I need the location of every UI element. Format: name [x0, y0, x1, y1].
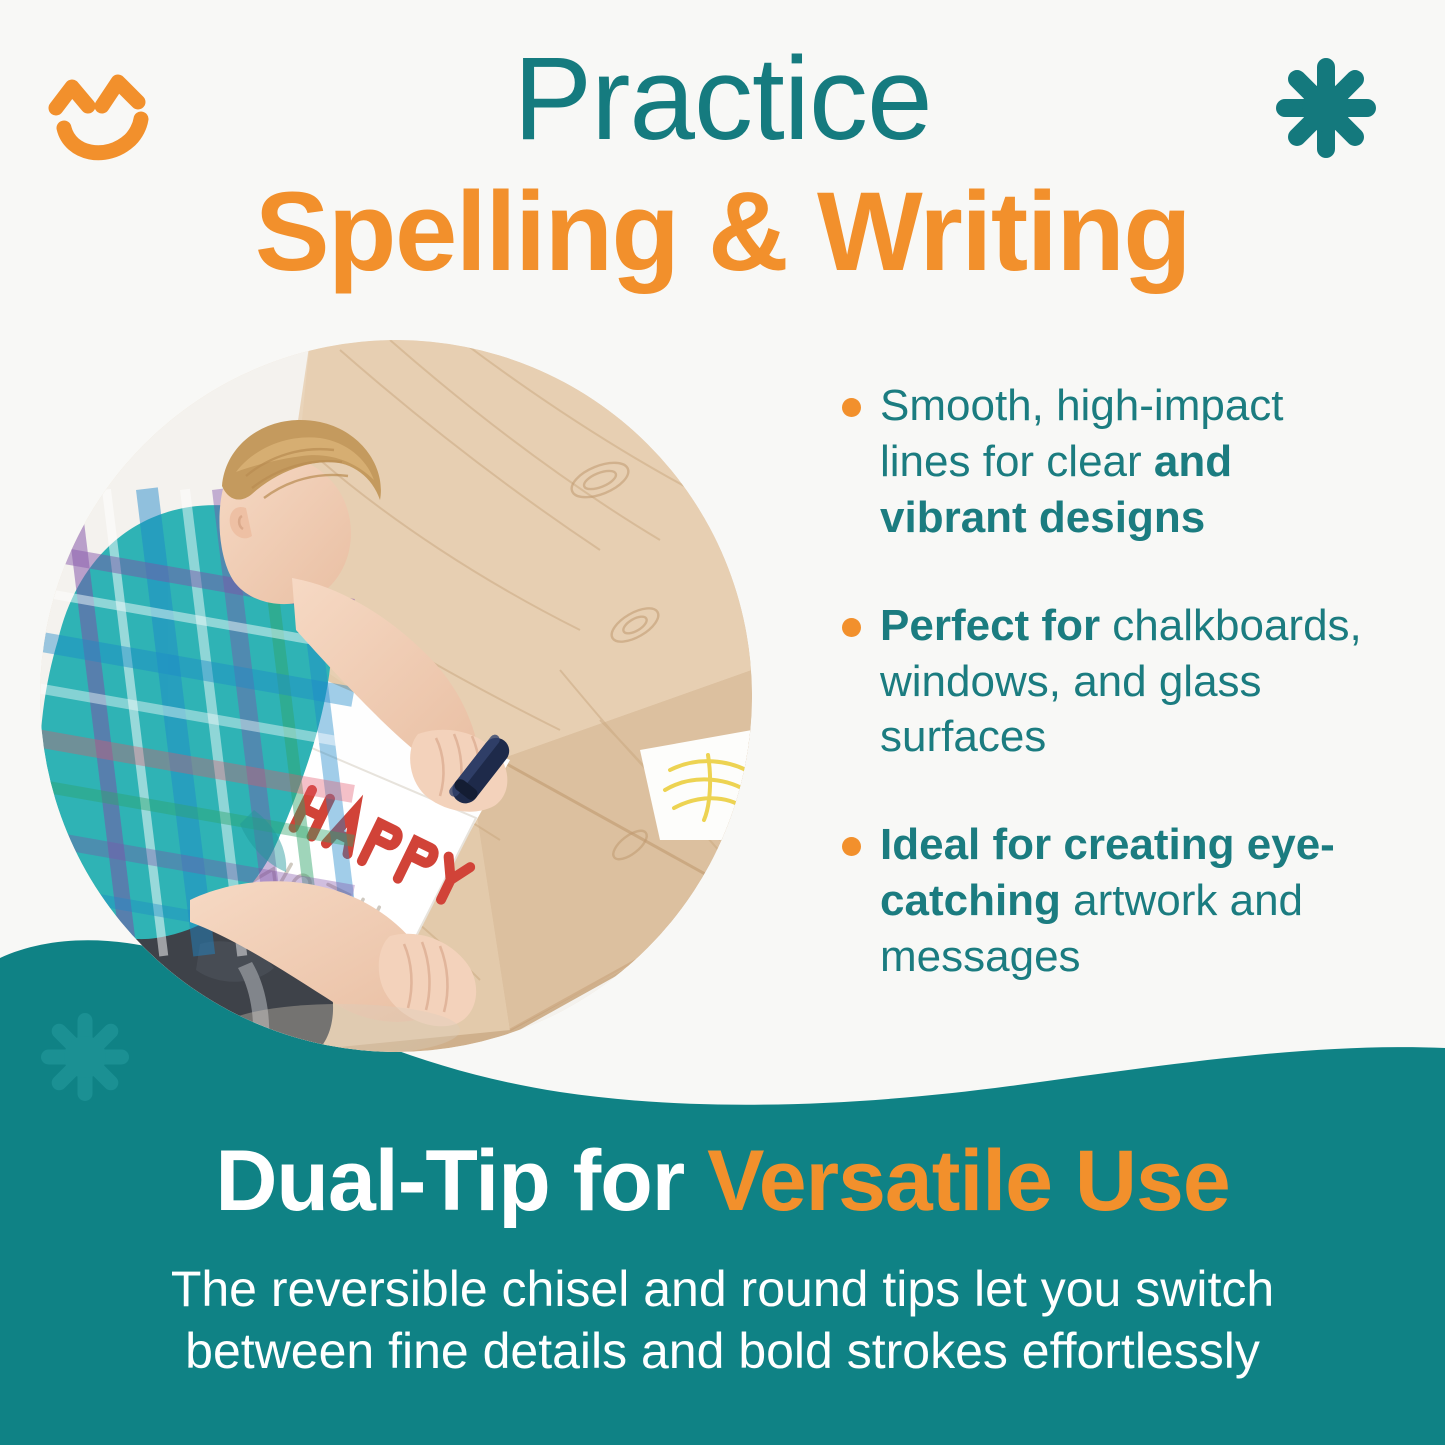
- bullet-text: Ideal for creating eye-catching artwork …: [880, 820, 1335, 981]
- orange-dot-bullet-icon: [842, 618, 861, 637]
- page-title-line1: Practice: [0, 40, 1445, 158]
- bottom-band-subtitle: The reversible chisel and round tips let…: [0, 1258, 1445, 1382]
- bottom-band-subtitle-line2: between fine details and bold strokes ef…: [70, 1320, 1375, 1382]
- infographic-page: Practice Spelling & Writing: [0, 0, 1445, 1445]
- bullet-perfect-for: Perfect for chalkboards, windows, and gl…: [836, 598, 1376, 766]
- asterisk-flower-icon: [1272, 54, 1380, 162]
- bullet-text: Perfect for chalkboards, windows, and gl…: [880, 601, 1362, 762]
- smiley-face-logo-icon: [44, 62, 156, 170]
- orange-dot-bullet-icon: [842, 837, 861, 856]
- orange-dot-bullet-icon: [842, 398, 861, 417]
- product-lifestyle-photo: [40, 340, 752, 1052]
- bullet-text: Smooth, high-impact lines for clear and …: [880, 381, 1284, 542]
- bottom-band-heading: Dual-Tip for Versatile Use: [0, 1138, 1445, 1224]
- bullet-ideal-for: Ideal for creating eye-catching artwork …: [836, 817, 1376, 985]
- feature-bullet-list: Smooth, high-impact lines for clear and …: [836, 378, 1376, 985]
- page-title-line2: Spelling & Writing: [0, 176, 1445, 288]
- bottom-band-subtitle-line1: The reversible chisel and round tips let…: [70, 1258, 1375, 1320]
- bottom-band-heading-accent: Versatile Use: [707, 1133, 1229, 1229]
- asterisk-flower-watermark-icon: [41, 1013, 129, 1101]
- bullet-smooth-lines: Smooth, high-impact lines for clear and …: [836, 378, 1376, 546]
- bottom-band-heading-white: Dual-Tip for: [215, 1133, 707, 1229]
